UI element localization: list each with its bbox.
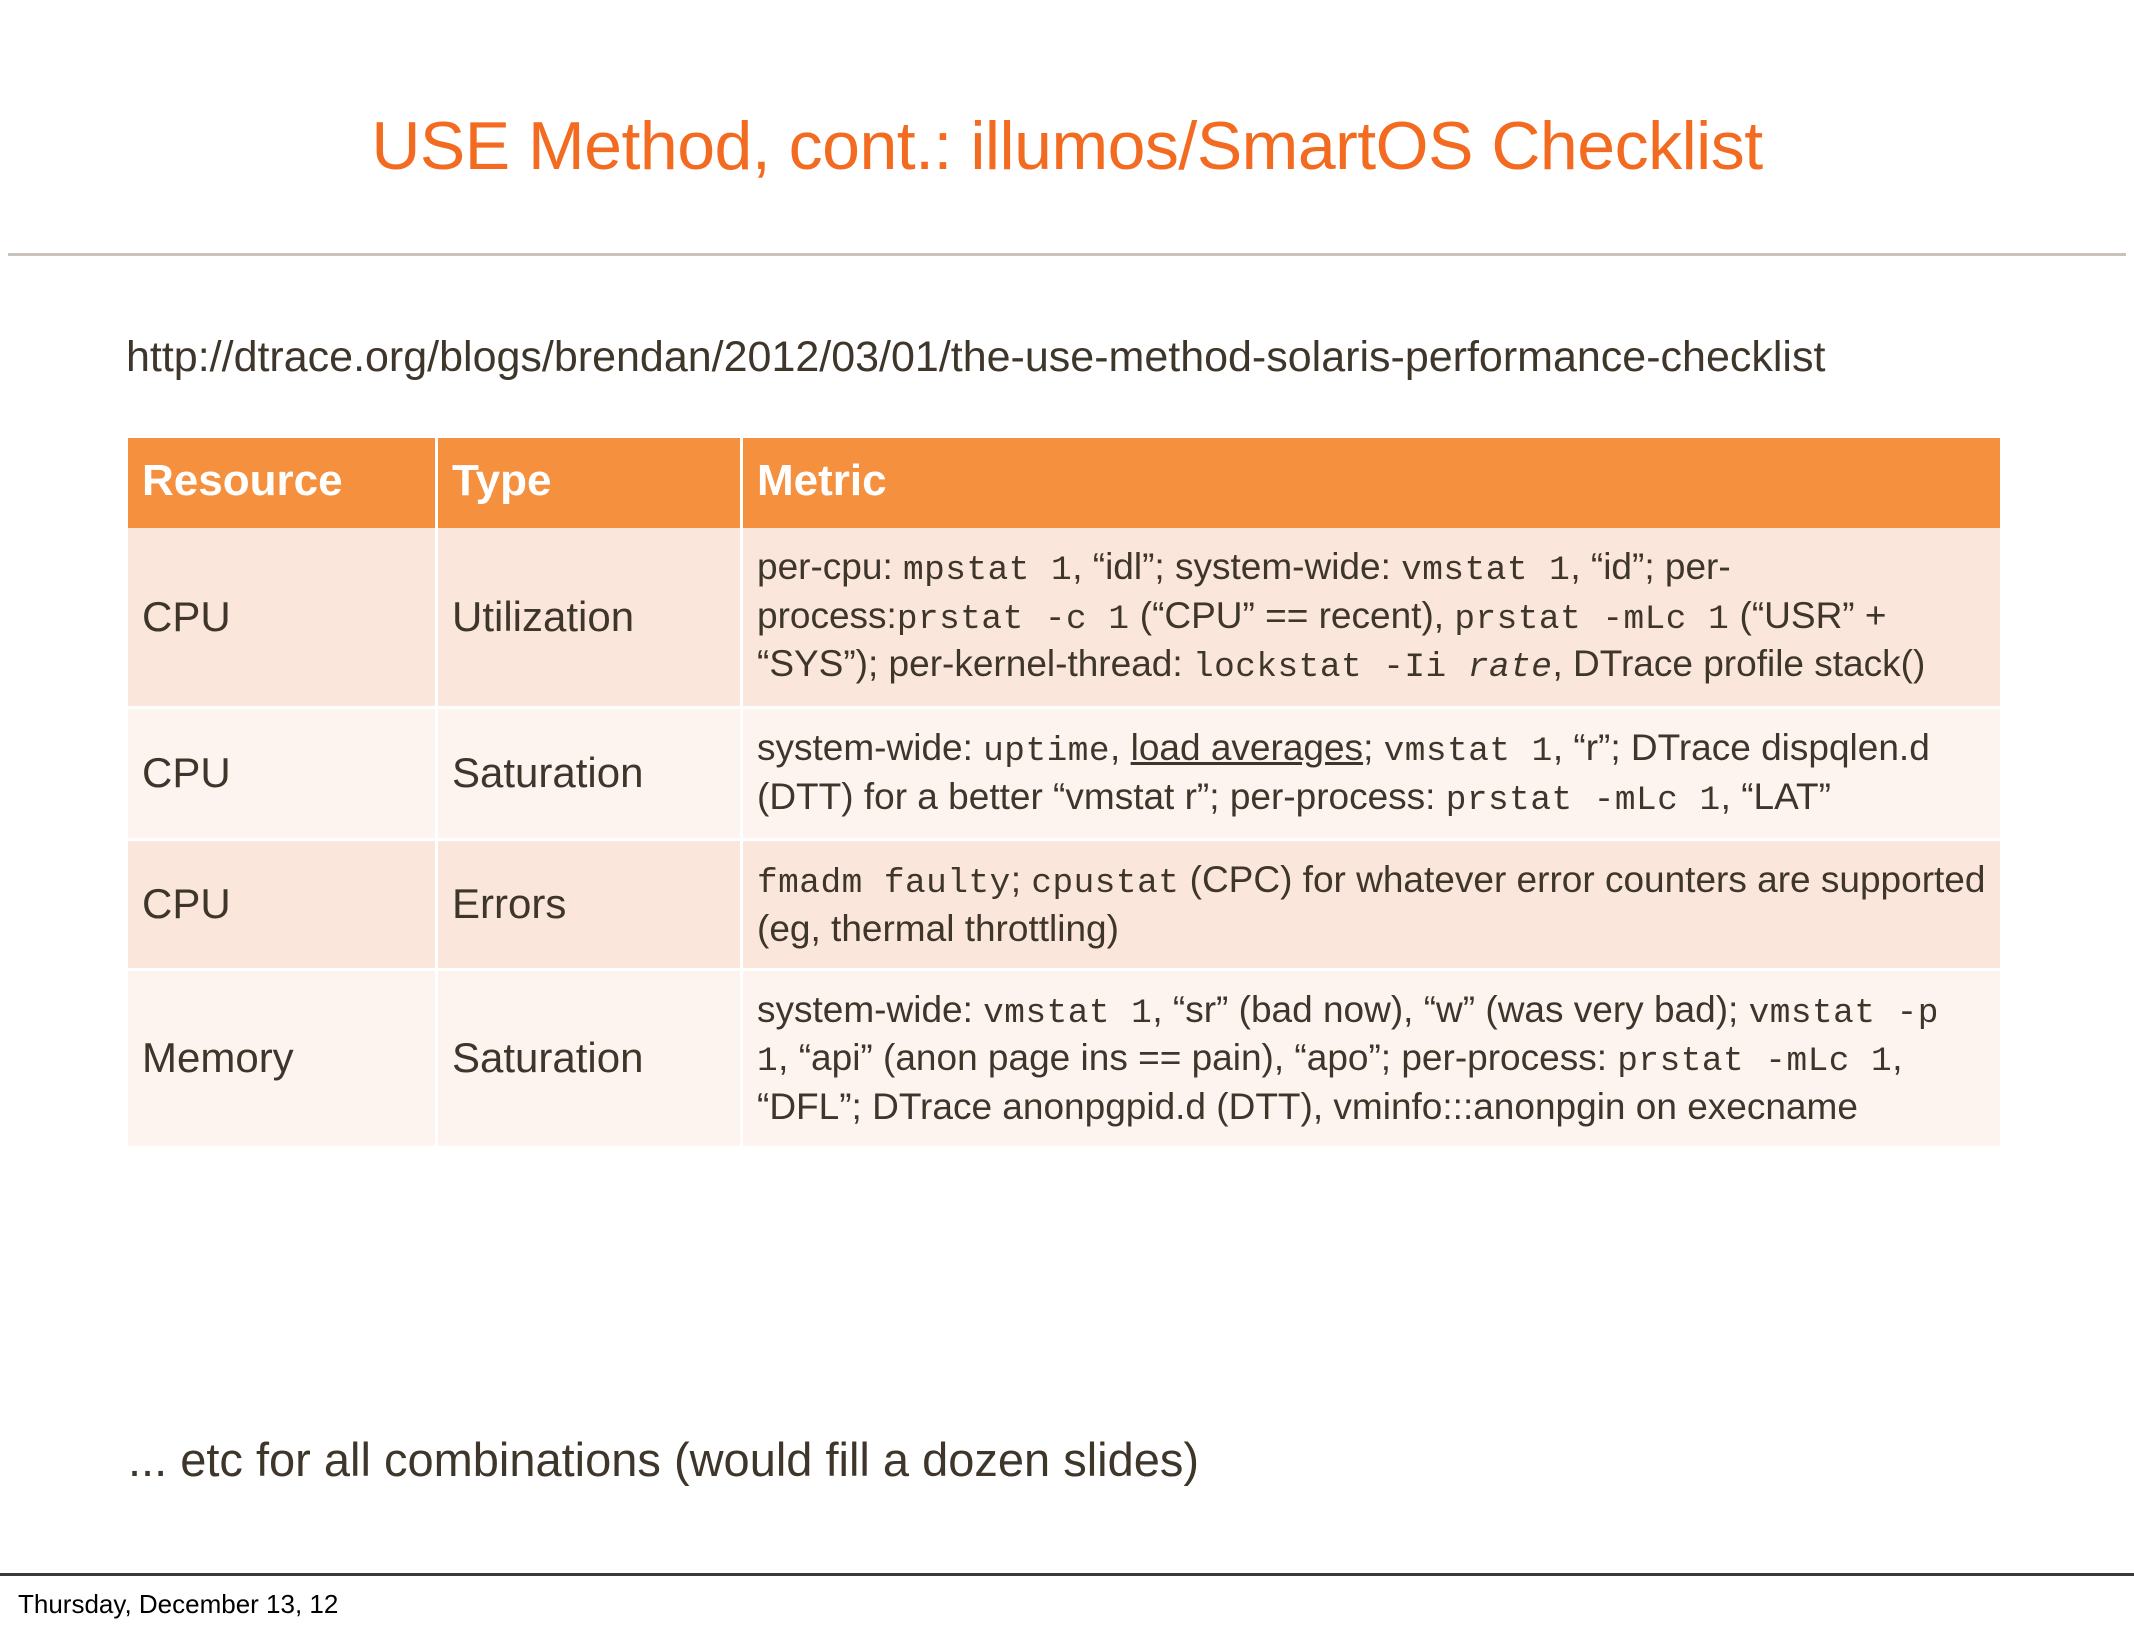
cell-type: Saturation	[438, 709, 743, 841]
column-header-resource: Resource	[128, 438, 438, 528]
cell-metric: per-cpu: mpstat 1, “idl”; system-wide: v…	[743, 528, 2000, 709]
footer-divider	[0, 1573, 2134, 1576]
slide-root: USE Method, cont.: illumos/SmartOS Check…	[0, 0, 2134, 1642]
cell-resource: CPU	[128, 709, 438, 841]
metric-code-run: uptime	[983, 732, 1110, 771]
cell-metric: system-wide: uptime, load averages; vmst…	[743, 709, 2000, 841]
metric-text-run: , DTrace profile stack()	[1552, 643, 1925, 684]
metric-text-run: ,	[1110, 727, 1131, 768]
column-header-metric: Metric	[743, 438, 2000, 528]
metric-text-run: ;	[1011, 859, 1032, 900]
footer-date: Thursday, December 13, 12	[18, 1589, 338, 1620]
cell-resource: Memory	[128, 971, 438, 1149]
table-header-row: Resource Type Metric	[128, 438, 2000, 528]
inline-link[interactable]: load averages	[1131, 727, 1363, 768]
cell-metric: fmadm faulty; cpustat (CPC) for whatever…	[743, 841, 2000, 971]
metric-code-run: prstat -c 1	[897, 600, 1130, 639]
metric-text-run: (“CPU” == recent),	[1129, 595, 1454, 636]
metric-code-run: mpstat 1	[903, 551, 1072, 590]
metric-text-run: , “api” (anon page ins == pain), “apo”; …	[778, 1037, 1617, 1078]
use-method-checklist-table: Resource Type Metric CPU Utilization per…	[128, 438, 2000, 1149]
table-row: CPU Utilization per-cpu: mpstat 1, “idl”…	[128, 528, 2000, 709]
table-body: CPU Utilization per-cpu: mpstat 1, “idl”…	[128, 528, 2000, 1149]
cell-type: Saturation	[438, 971, 743, 1149]
metric-text-run: per-cpu:	[757, 546, 903, 587]
metric-code-run: prstat -mLc 1	[1454, 600, 1729, 639]
metric-code-run: prstat -mLc 1	[1446, 781, 1721, 820]
cell-resource: CPU	[128, 528, 438, 709]
metric-code-run: prstat -mLc 1	[1617, 1042, 1892, 1081]
table-header: Resource Type Metric	[128, 438, 2000, 528]
metric-code-run: fmadm faulty	[757, 864, 1011, 903]
metric-text-run: , “sr” (bad now), “w” (was very bad);	[1152, 989, 1748, 1030]
metric-text-run: , “LAT”	[1721, 776, 1831, 817]
metric-code-run: vmstat 1	[1401, 551, 1570, 590]
cell-type: Utilization	[438, 528, 743, 709]
metric-text-run: ;	[1363, 727, 1384, 768]
table-row: CPU Errors fmadm faulty; cpustat (CPC) f…	[128, 841, 2000, 971]
table-row: Memory Saturation system-wide: vmstat 1,…	[128, 971, 2000, 1149]
metric-code-run: lockstat -Ii	[1193, 648, 1468, 687]
reference-url[interactable]: http://dtrace.org/blogs/brendan/2012/03/…	[126, 334, 1825, 381]
metric-text-run: , “idl”; system-wide:	[1072, 546, 1401, 587]
metric-code-run: vmstat 1	[1384, 732, 1553, 771]
page-title: USE Method, cont.: illumos/SmartOS Check…	[0, 112, 2134, 180]
title-divider	[8, 253, 2126, 256]
cell-type: Errors	[438, 841, 743, 971]
column-header-type: Type	[438, 438, 743, 528]
closing-note: ... etc for all combinations (would fill…	[128, 1432, 1199, 1487]
table-row: CPU Saturation system-wide: uptime, load…	[128, 709, 2000, 841]
metric-text-run: system-wide:	[757, 727, 983, 768]
metric-code-run: vmstat 1	[983, 994, 1152, 1033]
cell-metric: system-wide: vmstat 1, “sr” (bad now), “…	[743, 971, 2000, 1149]
metric-code-run: rate	[1468, 648, 1553, 687]
metric-code-run: cpustat	[1031, 864, 1179, 903]
cell-resource: CPU	[128, 841, 438, 971]
metric-text-run: system-wide:	[757, 989, 983, 1030]
